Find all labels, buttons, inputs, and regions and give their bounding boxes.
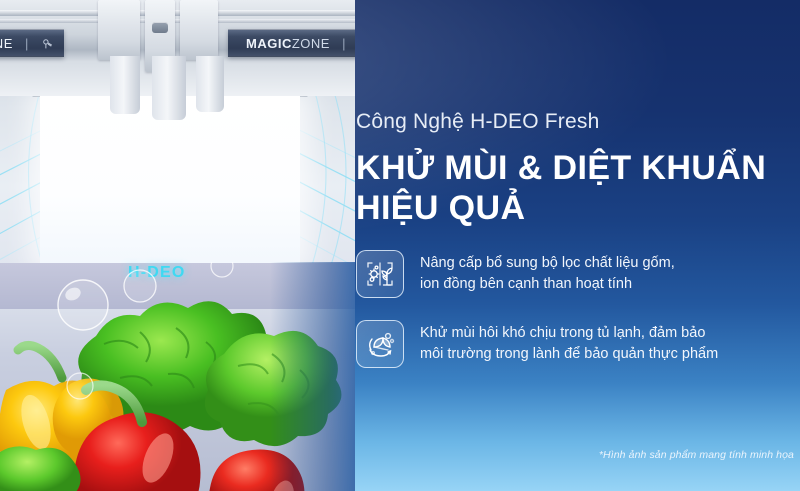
door-panel: [180, 0, 218, 60]
feature-item-2: Khử mùi hôi khó chịu trong tủ lạnh, đảm …: [356, 320, 718, 368]
hinge-icon: [152, 22, 168, 33]
page-title: KHỬ MÙI & DIỆT KHUẨN HIỆU QUẢ: [356, 148, 796, 228]
eyebrow-text: Công Nghệ H-DEO Fresh: [356, 110, 599, 134]
photo-edge-fade: [270, 262, 355, 491]
magiczone-label-left: ONE |: [0, 36, 54, 51]
product-photo: ONE | MAGICZONE | H-DEO: [0, 0, 355, 491]
magiczone-divider: |: [342, 36, 346, 51]
magiczone-light-text: ZONE: [292, 36, 330, 51]
feature-text: Khử mùi hôi khó chịu trong tủ lạnh, đảm …: [420, 323, 718, 365]
magiczone-left-text: ONE: [0, 36, 13, 51]
leaf-airflow-icon: [356, 320, 404, 368]
magiczone-bold-text: MAGIC: [246, 36, 292, 51]
magiczone-label-right: MAGICZONE |: [246, 36, 355, 51]
pepper-stem: [18, 345, 62, 378]
magiczone-divider: |: [25, 36, 29, 51]
shelf-rail: [0, 19, 355, 23]
deodorizer-glow-panel: [40, 95, 300, 263]
divider-pillar: [110, 56, 140, 114]
content-column: Công Nghệ H-DEO Fresh KHỬ MÙI & DIỆT KHU…: [352, 0, 800, 491]
promo-banner: ONE | MAGICZONE | H-DEO: [0, 0, 800, 491]
feature-item-1: Nâng cấp bổ sung bộ lọc chất liệu gốm, i…: [356, 250, 675, 298]
magiczone-strip-left: ONE |: [0, 29, 64, 57]
footnote-text: *Hình ảnh sản phẩm mang tính minh họa: [599, 449, 794, 461]
shelf-rail: [0, 10, 355, 16]
germ-plant-filter-icon: [356, 250, 404, 298]
divider-pillar: [196, 56, 224, 112]
magiczone-strip-right: MAGICZONE |: [228, 29, 355, 57]
divider-pillar: [152, 56, 186, 120]
feature-text: Nâng cấp bổ sung bộ lọc chất liệu gốm, i…: [420, 253, 675, 295]
door-panel: [98, 0, 140, 60]
vegetables-photo: [0, 262, 355, 491]
snowflake-sensor-icon: [41, 37, 54, 50]
